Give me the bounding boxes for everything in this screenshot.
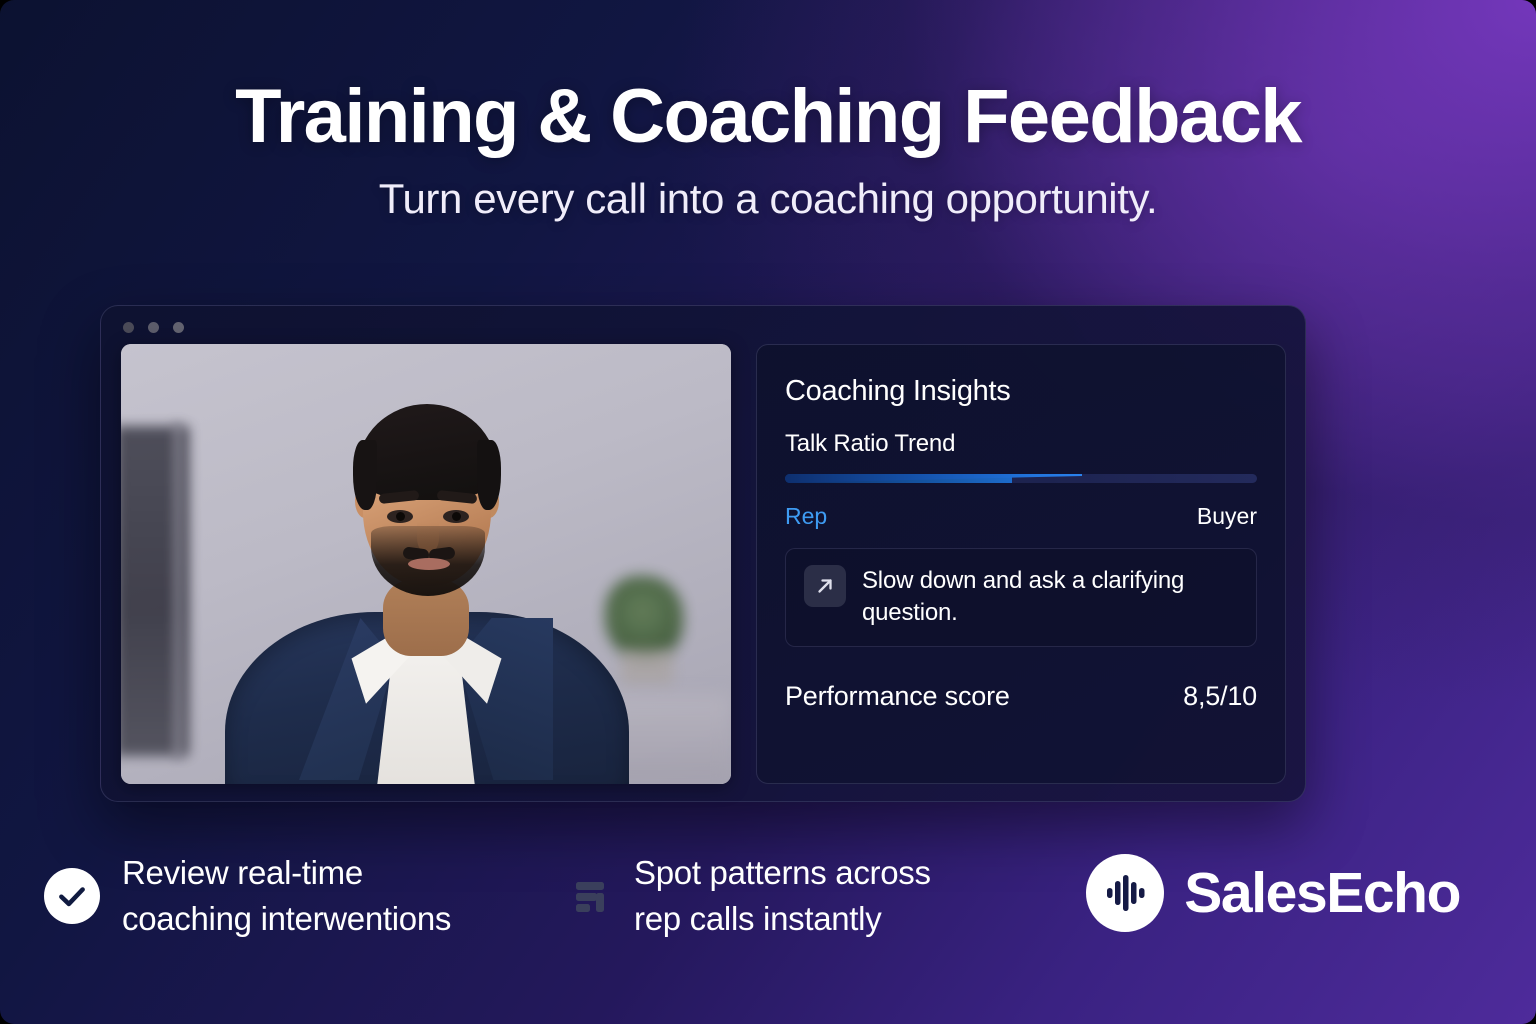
legend-rep-label: Rep [785,503,827,530]
window-dot-close-icon[interactable] [123,322,134,333]
coaching-tip-card[interactable]: Slow down and ask a clarifying question. [785,548,1257,647]
coaching-insights-panel: Coaching Insights Talk Ratio Trend Rep B… [756,344,1286,784]
page-canvas: Training & Coaching Feedback Turn every … [0,0,1536,1024]
audio-waveform-icon [1086,854,1164,932]
feature-patterns-line1: Spot patterns across [634,854,931,891]
performance-score-value: 8,5/10 [1183,681,1257,712]
performance-score-label: Performance score [785,681,1010,712]
talk-ratio-label: Talk Ratio Trend [785,430,1257,458]
bar-chart-icon [570,875,612,917]
feature-item-review: Review real-time coaching interwentions [44,850,451,941]
performance-score-row: Performance score 8,5/10 [785,681,1257,712]
talk-ratio-legend: Rep Buyer [785,503,1257,530]
window-titlebar [123,322,184,333]
app-window: Coaching Insights Talk Ratio Trend Rep B… [100,305,1306,802]
brand-name: SalesEcho [1184,860,1460,926]
legend-buyer-label: Buyer [1197,503,1257,530]
feature-review-line2: coaching interwentions [122,900,451,937]
check-circle-icon [44,868,100,924]
feature-item-patterns: Spot patterns across rep calls instantly [570,850,931,941]
window-dot-minimize-icon[interactable] [148,322,159,333]
talk-ratio-bar[interactable] [785,474,1257,483]
page-title: Training & Coaching Feedback [0,78,1536,156]
feature-text-review: Review real-time coaching interwentions [122,850,451,941]
brand-logo[interactable]: SalesEcho [1086,854,1460,932]
participant-portrait [121,344,731,784]
footer-section: Review real-time coaching interwentions … [0,838,1536,978]
feature-review-line1: Review real-time [122,854,363,891]
insights-title: Coaching Insights [785,375,1257,408]
feature-text-patterns: Spot patterns across rep calls instantly [634,850,931,941]
video-feed-panel[interactable] [121,344,731,784]
hero-section: Training & Coaching Feedback Turn every … [0,78,1536,222]
coaching-tip-text: Slow down and ask a clarifying question. [862,565,1238,630]
feature-patterns-line2: rep calls instantly [634,900,881,937]
arrow-up-right-icon [804,565,846,607]
window-dot-maximize-icon[interactable] [173,322,184,333]
page-subtitle: Turn every call into a coaching opportun… [0,176,1536,222]
